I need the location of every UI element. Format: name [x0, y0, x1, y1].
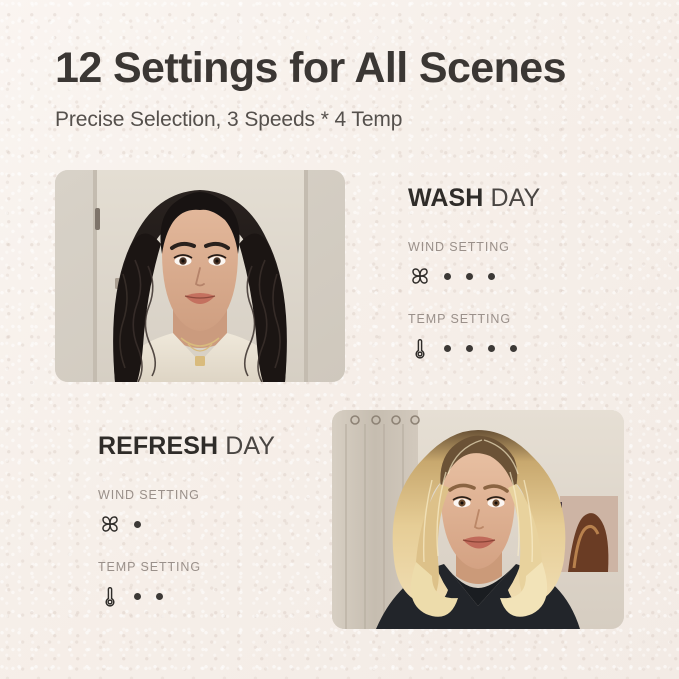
page-title: 12 Settings for All Scenes	[55, 46, 566, 91]
level-dot	[488, 345, 495, 352]
photo-wash-day	[55, 170, 345, 382]
thermometer-icon	[98, 584, 122, 608]
level-dot	[444, 345, 451, 352]
promo-graphic: 12 Settings for All Scenes Precise Selec…	[0, 0, 679, 679]
level-dot	[134, 593, 141, 600]
refresh-day-heading-light: DAY	[225, 432, 275, 460]
level-dot	[444, 273, 451, 280]
section-wash-day: WASH DAY WIND SETTING TEMP SETTING	[408, 186, 540, 361]
wash-temp-level-dots	[444, 345, 517, 352]
refresh-temp-level-dots	[134, 593, 163, 600]
level-dot	[466, 345, 473, 352]
level-dot	[134, 521, 141, 528]
level-dot	[488, 273, 495, 280]
refresh-wind-setting-label: WIND SETTING	[98, 488, 275, 502]
level-dot	[156, 593, 163, 600]
refresh-temp-setting: TEMP SETTING	[98, 560, 275, 609]
section-refresh-day: REFRESH DAY WIND SETTING TEMP SETTING	[98, 434, 275, 609]
photo-wash-day-image	[55, 170, 345, 382]
fan-icon	[98, 512, 122, 536]
page-subtitle: Precise Selection, 3 Speeds * 4 Temp	[55, 108, 402, 132]
wash-day-heading: WASH DAY	[408, 186, 540, 211]
refresh-wind-setting: WIND SETTING	[98, 488, 275, 537]
fan-icon	[408, 264, 432, 288]
wash-day-heading-light: DAY	[490, 184, 540, 212]
photo-refresh-day-image	[332, 410, 624, 629]
wash-temp-setting-label: TEMP SETTING	[408, 312, 540, 326]
level-dot	[466, 273, 473, 280]
wash-wind-setting-label: WIND SETTING	[408, 240, 540, 254]
refresh-temp-setting-label: TEMP SETTING	[98, 560, 275, 574]
thermometer-icon	[408, 336, 432, 360]
level-dot	[510, 345, 517, 352]
wash-day-heading-strong: WASH	[408, 184, 483, 212]
refresh-day-heading-strong: REFRESH	[98, 432, 218, 460]
refresh-day-heading: REFRESH DAY	[98, 434, 275, 459]
wash-temp-setting: TEMP SETTING	[408, 312, 540, 361]
wash-wind-level-dots	[444, 273, 495, 280]
wash-wind-setting: WIND SETTING	[408, 240, 540, 289]
photo-refresh-day	[332, 410, 624, 629]
refresh-wind-level-dots	[134, 521, 141, 528]
